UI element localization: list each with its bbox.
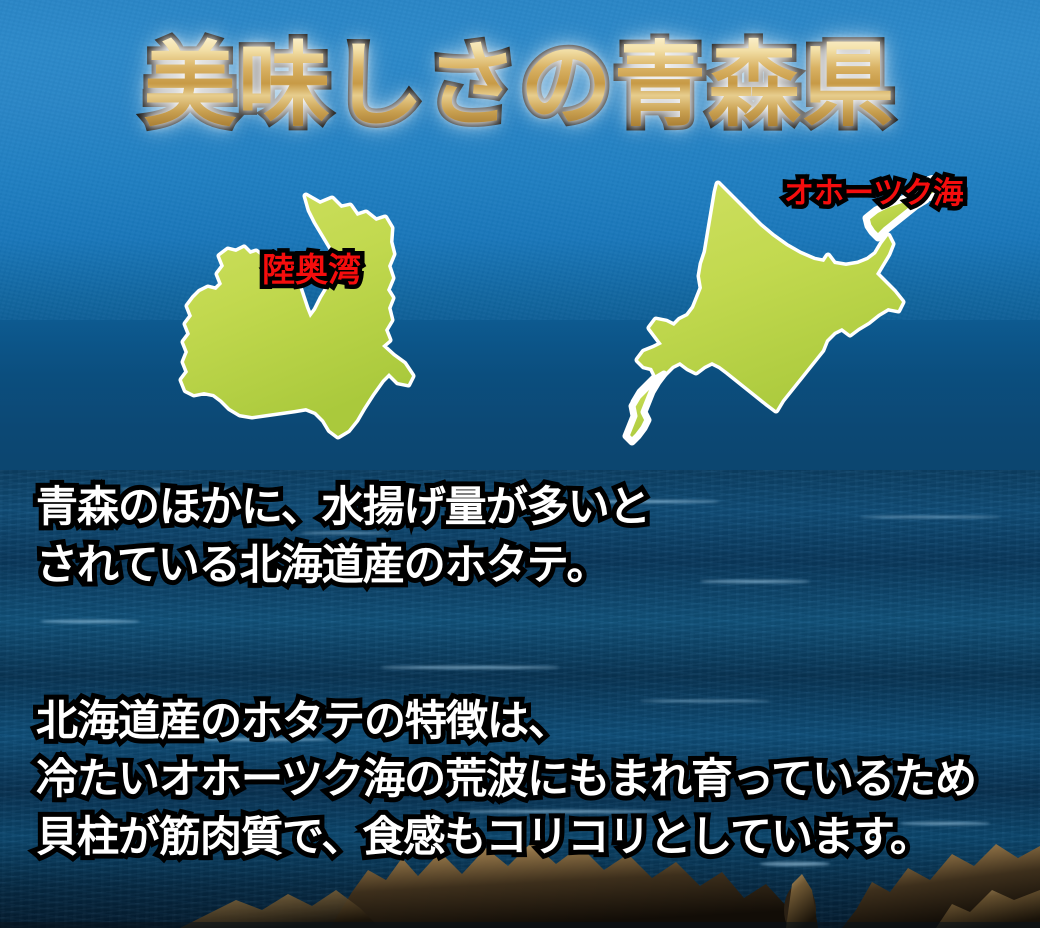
paragraph1-line2: されている北海道産のホタテ。 [36,536,650,594]
description-paragraph-1: 青森のほかに、水揚げ量が多いと されている北海道産のホタテ。 [36,478,650,594]
sea-label-mutsu-bay: 陸奥湾 [262,243,361,291]
map-aomori-prefecture [160,180,440,440]
map-hokkaido [610,170,950,460]
sea-label-sea-of-okhotsk: オホーツク海 [784,168,963,212]
paragraph2-line3: 貝柱が筋肉質で、食感もコリコリとしています。 [36,808,976,866]
paragraph2-line1: 北海道産のホタテの特徴は、 [36,692,976,750]
description-paragraph-2: 北海道産のホタテの特徴は、 冷たいオホーツク海の荒波にもまれ育っているため 貝柱… [36,692,976,866]
paragraph2-line2: 冷たいオホーツク海の荒波にもまれ育っているため [36,750,976,808]
paragraph1-line1: 青森のほかに、水揚げ量が多いと [36,478,650,536]
page-title-outline: 美味しさの青森県 [0,36,1040,135]
promo-banner: 美味しさの青森県 美味しさの青森県 [0,0,1040,928]
